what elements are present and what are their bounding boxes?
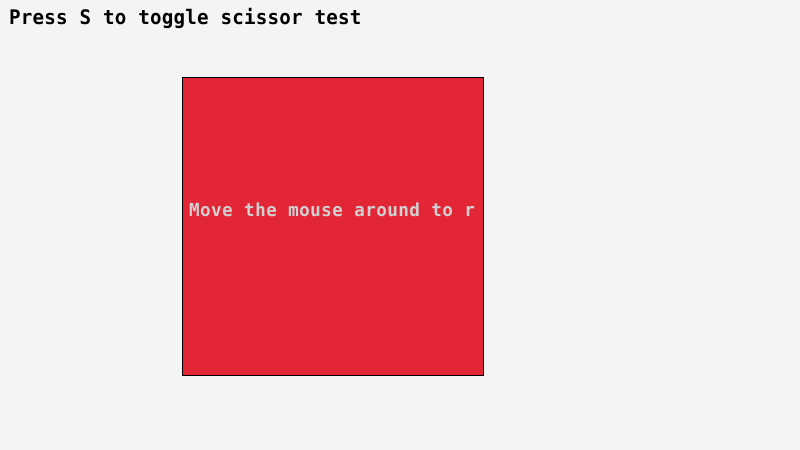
scissor-region-message: Move the mouse around to r [189,201,484,221]
page-title: Press S to toggle scissor test [9,5,362,29]
scissor-region[interactable]: Move the mouse around to r [182,77,484,376]
app-canvas: Press S to toggle scissor test Move the … [0,0,800,450]
